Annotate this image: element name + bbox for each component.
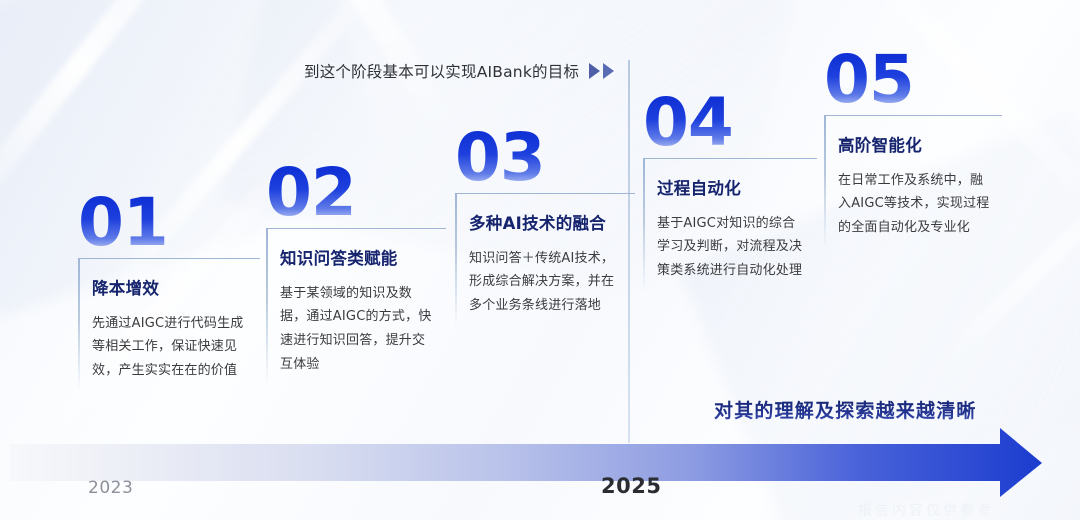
stage-block-01[interactable]: 01 降本增效 先通过AIGC进行代码生成等相关工作，保证快速见效，产生实实在在… (78, 195, 260, 391)
stage-description: 知识问答＋传统AI技术，形成综合解决方案，并在多个业务条线进行落地 (469, 247, 625, 318)
stage-description: 先通过AIGC进行代码生成等相关工作，保证快速见效，产生实实在在的价值 (92, 312, 250, 383)
stage-block-03[interactable]: 03 多种AI技术的融合 知识问答＋传统AI技术，形成综合解决方案，并在多个业务… (455, 130, 635, 326)
stage-card: 多种AI技术的融合 知识问答＋传统AI技术，形成综合解决方案，并在多个业务条线进… (455, 193, 635, 326)
stage-description: 在日常工作及系统中，融入AIGC等技术，实现过程的全面自动化及专业化 (838, 169, 992, 240)
stage-number: 04 (643, 95, 737, 152)
stage-number: 02 (266, 165, 360, 222)
top-annotation: 到这个阶段基本可以实现AIBank的目标 (304, 60, 614, 82)
stage-number: 03 (455, 130, 549, 187)
stage-title: 高阶智能化 (838, 132, 992, 156)
top-annotation-text: 到这个阶段基本可以实现AIBank的目标 (304, 60, 579, 82)
stage-title: 知识问答类赋能 (280, 245, 436, 269)
stage-card: 知识问答类赋能 基于某领域的知识及数据，通过AIGC的方式，快速进行知识回答，提… (266, 228, 446, 385)
stage-description: 基于某领域的知识及数据，通过AIGC的方式，快速进行知识回答，提升交互体验 (280, 282, 436, 377)
stage-block-04[interactable]: 04 过程自动化 基于AIGC对知识的综合学习及判断，对流程及决策类系统进行自动… (643, 95, 817, 291)
chevron-right-icon-1 (589, 63, 600, 79)
stage-card: 高阶智能化 在日常工作及系统中，融入AIGC等技术，实现过程的全面自动化及专业化 (824, 115, 1002, 248)
watermark-text: 报告内容仅供参考 (858, 500, 994, 520)
stage-number: 01 (78, 195, 172, 252)
stage-card: 降本增效 先通过AIGC进行代码生成等相关工作，保证快速见效，产生实实在在的价值 (78, 258, 260, 391)
stage-card: 过程自动化 基于AIGC对知识的综合学习及判断，对流程及决策类系统进行自动化处理 (643, 158, 817, 291)
stage-description: 基于AIGC对知识的综合学习及判断，对流程及决策类系统进行自动化处理 (657, 212, 807, 283)
stage-block-02[interactable]: 02 知识问答类赋能 基于某领域的知识及数据，通过AIGC的方式，快速进行知识回… (266, 165, 446, 384)
stage-title: 多种AI技术的融合 (469, 210, 625, 234)
stage-title: 降本增效 (92, 275, 250, 299)
bottom-annotation-text: 对其的理解及探索越来越清晰 (714, 396, 977, 423)
year-label-2025: 2025 (601, 474, 661, 498)
stage-title: 过程自动化 (657, 175, 807, 199)
stage-number: 05 (824, 52, 918, 109)
year-label-2023: 2023 (88, 478, 133, 498)
chevron-right-icon-2 (603, 63, 614, 79)
stage-block-05[interactable]: 05 高阶智能化 在日常工作及系统中，融入AIGC等技术，实现过程的全面自动化及… (824, 52, 1002, 248)
double-chevron-right-icon (589, 63, 614, 79)
